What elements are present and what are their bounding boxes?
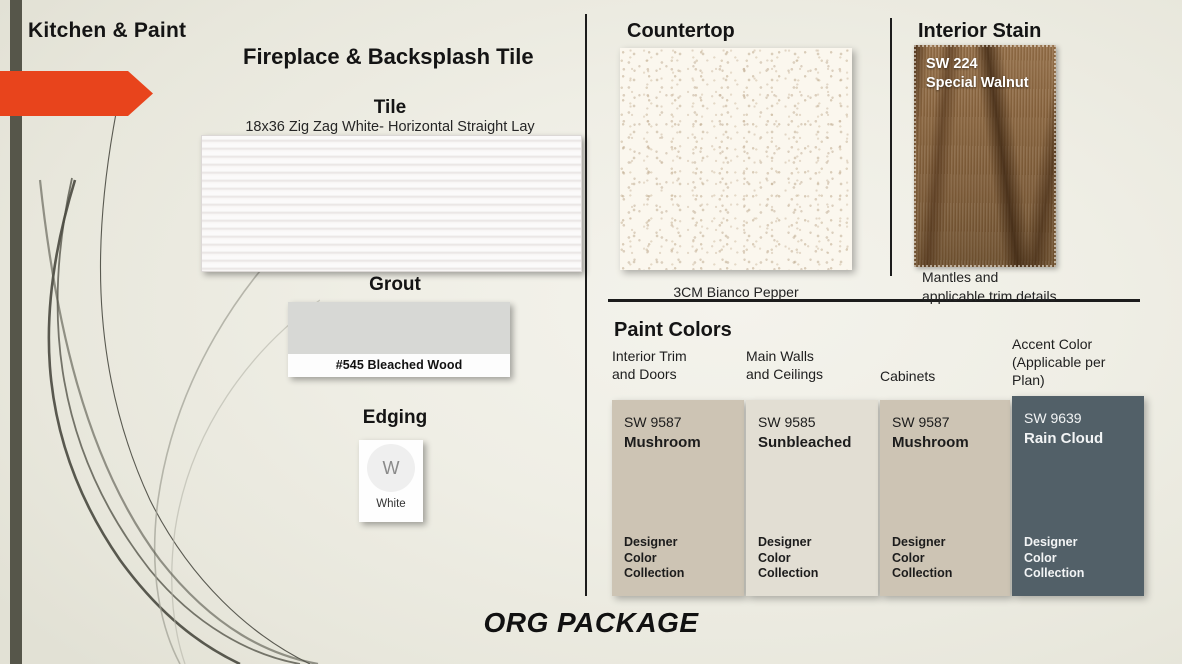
paint-swatch: SW 9587MushroomDesigner Color Collection: [612, 400, 744, 596]
package-title: ORG PACKAGE: [0, 607, 1182, 639]
page-title: Kitchen & Paint: [28, 19, 186, 43]
slide-canvas: Kitchen & Paint Fireplace & Backsplash T…: [0, 0, 1182, 664]
vertical-divider-stain: [890, 18, 892, 276]
interior-stain-caption: Mantles and applicable trim details: [922, 268, 1152, 306]
paint-code: SW 9585: [758, 414, 816, 430]
tile-swatch: [201, 135, 582, 272]
paint-use-label: Main Walls and Ceilings: [746, 348, 898, 384]
paint-swatch: SW 9587MushroomDesigner Color Collection: [880, 400, 1010, 596]
interior-stain-code-name: SW 224 Special Walnut: [926, 55, 1029, 93]
orange-arrow-banner: [0, 71, 153, 116]
countertop-caption: 3CM Bianco Pepper: [620, 284, 852, 300]
vertical-divider-main: [585, 14, 587, 596]
countertop-heading: Countertop: [627, 20, 735, 43]
paint-name: Mushroom: [892, 432, 969, 454]
paint-code-name: SW 9587Mushroom: [892, 412, 969, 454]
paint-code-name: SW 9585Sunbleached: [758, 412, 851, 454]
paint-swatch: SW 9639Rain CloudDesigner Color Collecti…: [1012, 396, 1144, 596]
edging-name: White: [359, 498, 423, 510]
tile-label: Tile: [190, 97, 590, 119]
grout-code-name: #545 Bleached Wood: [288, 354, 510, 377]
interior-stain-heading: Interior Stain: [918, 20, 1041, 43]
paint-use-label: Accent Color (Applicable per Plan): [1012, 336, 1164, 390]
stain-code: SW 224: [926, 56, 978, 72]
paint-name: Mushroom: [624, 432, 701, 454]
paint-use-label: Interior Trim and Doors: [612, 348, 764, 384]
tile-description: 18x36 Zig Zag White- Horizontal Straight…: [190, 119, 590, 135]
paint-code: SW 9587: [624, 414, 682, 430]
paint-swatch: SW 9585SunbleachedDesigner Color Collect…: [746, 400, 878, 596]
countertop-swatch: [620, 48, 852, 270]
paint-use-label: Cabinets: [880, 368, 1030, 386]
paint-code: SW 9587: [892, 414, 950, 430]
grout-label: Grout: [240, 274, 550, 296]
paint-colors-heading: Paint Colors: [614, 319, 732, 342]
stain-name: Special Walnut: [926, 75, 1029, 91]
paint-collection: Designer Color Collection: [624, 535, 684, 582]
edging-initial: W: [367, 444, 415, 492]
paint-name: Rain Cloud: [1024, 428, 1103, 450]
paint-collection: Designer Color Collection: [892, 535, 952, 582]
paint-code: SW 9639: [1024, 410, 1082, 426]
grout-swatch: #545 Bleached Wood: [288, 302, 510, 377]
fireplace-section-heading: Fireplace & Backsplash Tile: [243, 44, 534, 70]
edging-swatch: W White: [359, 440, 423, 522]
paint-code-name: SW 9639Rain Cloud: [1024, 408, 1103, 450]
paint-collection: Designer Color Collection: [1024, 535, 1084, 582]
edging-label: Edging: [240, 407, 550, 429]
paint-collection: Designer Color Collection: [758, 535, 818, 582]
paint-name: Sunbleached: [758, 432, 851, 454]
paint-code-name: SW 9587Mushroom: [624, 412, 701, 454]
